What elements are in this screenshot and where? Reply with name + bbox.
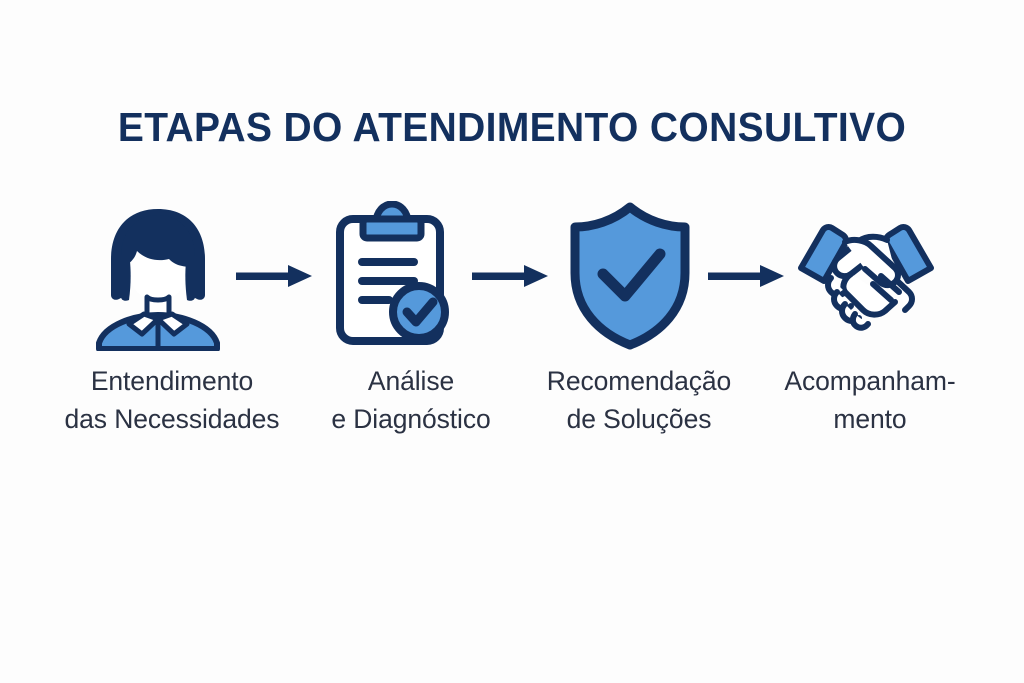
connector-arrow-2 — [469, 256, 555, 296]
process-flow — [30, 196, 994, 356]
step-2-label: Análise e Diagnóstico — [308, 362, 514, 438]
step-labels: Entendimento das Necessidades Análise e … — [16, 362, 1008, 438]
step-2-icon-wrapper — [319, 201, 469, 351]
connector-arrow-3 — [705, 256, 791, 296]
handshake-icon — [791, 216, 941, 336]
shield-check-icon — [565, 201, 695, 351]
step-3-label: Recomendação de Soluções — [528, 362, 750, 438]
page-title: ETAPAS DO ATENDIMENTO CONSULTIVO — [26, 104, 999, 151]
arrow-right-icon — [472, 262, 552, 290]
woman-avatar-icon — [85, 201, 231, 351]
infographic-canvas: ETAPAS DO ATENDIMENTO CONSULTIVO — [0, 0, 1024, 683]
step-3-icon-wrapper — [555, 201, 705, 351]
step-4-label: Acompanham- mento — [762, 362, 978, 438]
step-1-label: Entendimento das Necessidades — [46, 362, 298, 438]
step-4-icon-wrapper — [791, 201, 941, 351]
clipboard-check-icon — [330, 201, 458, 351]
arrow-right-icon — [708, 262, 788, 290]
step-1-icon-wrapper — [83, 201, 233, 351]
arrow-right-icon — [236, 262, 316, 290]
connector-arrow-1 — [233, 256, 319, 296]
